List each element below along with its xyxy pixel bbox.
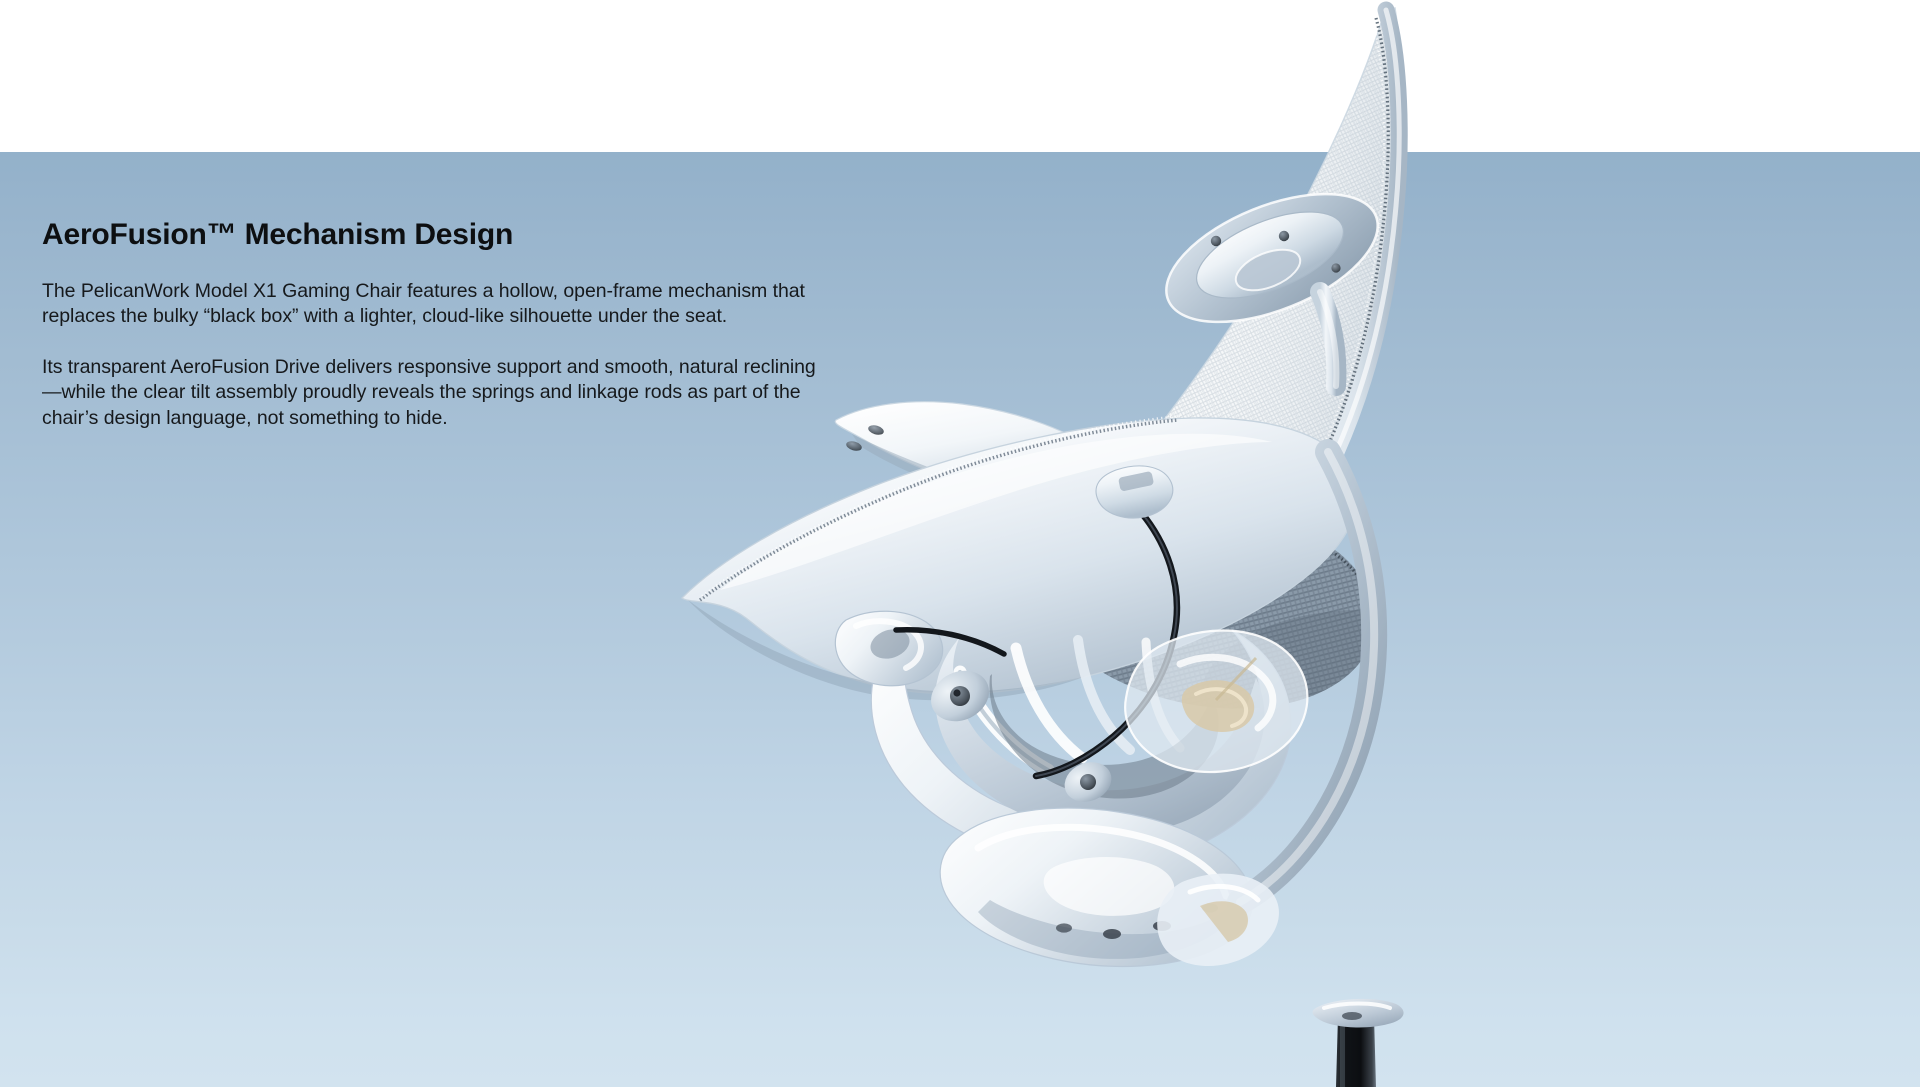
lower-tilt-fin [1157, 874, 1279, 966]
feature-paragraph-1: The PelicanWork Model X1 Gaming Chair fe… [42, 279, 832, 330]
cable-clip-block [1096, 466, 1173, 518]
feature-paragraph-2: Its transparent AeroFusion Drive deliver… [42, 355, 817, 432]
hub-screw-icon [1331, 263, 1340, 272]
post-bolt-icon [1342, 1012, 1362, 1020]
pivot-screw-icon [1080, 774, 1096, 790]
hub-screw-icon [1279, 231, 1289, 241]
product-feature-banner: AeroFusion™ Mechanism Design The Pelican… [0, 0, 1920, 1087]
page-title: AeroFusion™ Mechanism Design [42, 218, 842, 253]
transparent-tilt-housing [1125, 631, 1307, 773]
product-photo-chair [660, 0, 1480, 1087]
feature-copy-block: AeroFusion™ Mechanism Design The Pelican… [42, 218, 842, 431]
gas-cylinder-post [1313, 999, 1404, 1087]
pivot-screw-icon [950, 686, 970, 706]
base-bolt-icon [1103, 929, 1121, 939]
hub-screw-icon [1211, 236, 1221, 246]
base-bolt-icon [1056, 923, 1072, 932]
